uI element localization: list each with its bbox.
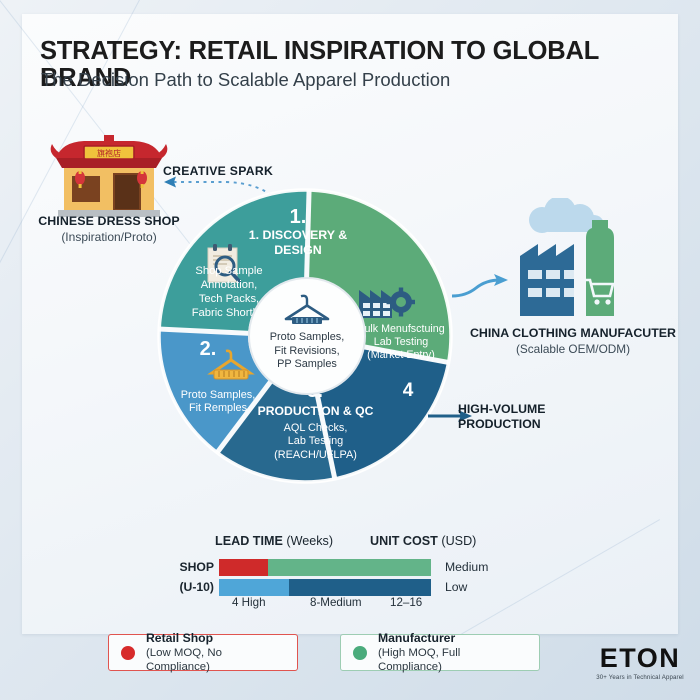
chart-header-unit-cost: UNIT COST (USD) [370,534,476,548]
cycle-hub-text: Proto Samples, Fit Revisions, PP Samples [270,331,344,372]
manufacturer-sublabel: (Scalable OEM/ODM) [453,342,693,356]
chart-tick-0: 4 High [232,596,266,609]
sample-annotation-icon [203,242,243,284]
lead-time-bold: LEAD TIME [215,534,283,548]
svg-text:旗袍店: 旗袍店 [97,148,121,158]
chart-cost-shop: Medium [445,560,488,574]
hv-line-2: PRODUCTION [458,417,541,431]
manufacturer-label: CHINA CLOTHING MANUFACUTER [453,326,693,340]
legend-title-retail-shop: Retail Shop [146,631,285,646]
comparison-chart: LEAD TIME (Weeks) UNIT COST (USD) SHOP M… [170,534,500,614]
chart-row-label-shop: SHOP [162,560,214,574]
legend-title-manufacturer: Manufacturer [378,631,527,646]
factory-icon [498,198,638,328]
chart-bar-u10[interactable] [219,579,431,596]
legend-item-manufacturer[interactable]: Manufacturer (High MOQ, Full Compliance) [340,634,540,671]
chart-row-label-u10: (U-10) [162,580,214,594]
cycle-hub: Proto Samples, Fit Revisions, PP Samples [248,277,366,395]
chart-bar-u10-seg-1 [219,579,289,596]
legend-dot-manufacturer [353,646,367,660]
measuring-tape-hanger-icon [207,348,255,386]
high-volume-production-label: HIGH-VOLUME PRODUCTION [458,402,618,433]
chart-bar-shop-seg-1 [219,559,268,576]
infographic-canvas: STRATEGY: RETAIL INSPIRATION TO GLOBAL B… [0,0,700,700]
unit-cost-unit: (USD) [441,534,476,548]
factory-gear-icon [357,274,415,320]
chart-bar-u10-seg-2 [289,579,431,596]
logo-tagline: 30+ Years in Technical Apparel [592,674,688,681]
legend-item-retail-shop[interactable]: Retail Shop (Low MOQ, No Compliance) [108,634,298,671]
lead-time-unit: (Weeks) [286,534,333,548]
eton-logo: ETON 30+ Years in Technical Apparel [592,645,688,681]
chart-tick-1: 8-Medium [310,596,362,609]
process-cycle-donut: 1. 1. DISCOVERY & DESIGN Shop Sample Ann… [155,186,455,486]
hv-line-1: HIGH-VOLUME [458,402,545,416]
legend-dot-retail-shop [121,646,135,660]
clothes-hanger-icon [280,292,334,328]
unit-cost-bold: UNIT COST [370,534,438,548]
chart-tick-2: 12–16 [390,596,422,609]
legend-subtitle-manufacturer: (High MOQ, Full Compliance) [378,646,527,675]
chart-bar-shop[interactable] [219,559,431,576]
logo-wordmark: ETON [592,645,688,672]
chart-bar-shop-seg-2 [268,559,431,576]
legend-subtitle-retail-shop: (Low MOQ, No Compliance) [146,646,285,675]
chart-header-lead-time: LEAD TIME (Weeks) [215,534,333,548]
chart-cost-u10: Low [445,580,467,594]
page-subtitle: The Decision Path to Scalable Apparel Pr… [41,69,661,90]
